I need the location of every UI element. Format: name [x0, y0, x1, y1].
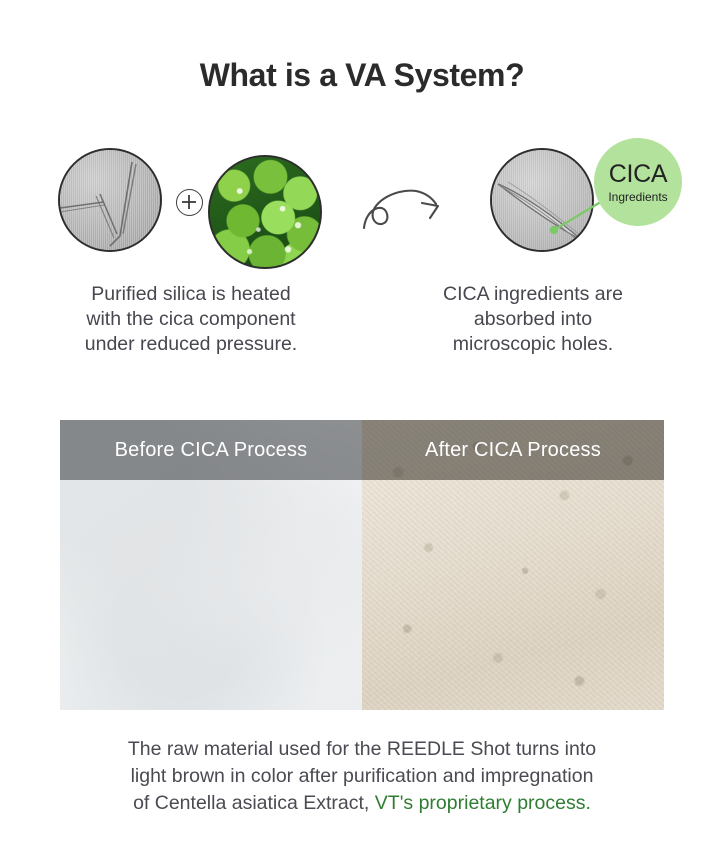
before-after-comparison: Before CICA Process After CICA Process — [60, 420, 664, 710]
caption-right: CICA ingredients are absorbed into micro… — [362, 282, 724, 357]
caption-left-line-3: under reduced pressure. — [40, 332, 342, 357]
cica-ingredients-badge: CICA Ingredients — [594, 138, 682, 226]
footer-line-2: light brown in color after purification … — [0, 763, 724, 790]
cica-badge-subtitle: Ingredients — [608, 191, 667, 203]
plus-icon — [176, 189, 203, 216]
process-diagram: CICA Ingredients — [0, 138, 724, 268]
caption-right-line-1: CICA ingredients are — [382, 282, 684, 307]
comparison-label-bar: Before CICA Process After CICA Process — [60, 420, 664, 480]
footer-highlight: VT's proprietary process. — [375, 792, 591, 814]
curved-process-arrow — [360, 178, 446, 234]
after-label: After CICA Process — [362, 420, 664, 480]
caption-left-line-1: Purified silica is heated — [40, 282, 342, 307]
cica-badge-title: CICA — [609, 162, 668, 187]
purified-silica-micrograph — [58, 148, 162, 252]
caption-right-line-3: microscopic holes. — [382, 332, 684, 357]
caption-left-line-2: with the cica component — [40, 307, 342, 332]
caption-left: Purified silica is heated with the cica … — [0, 282, 362, 357]
water-droplets — [210, 157, 320, 267]
centella-asiatica-leaves — [208, 155, 322, 269]
footer-description: The raw material used for the REEDLE Sho… — [0, 736, 724, 817]
caption-row: Purified silica is heated with the cica … — [0, 282, 724, 357]
footer-line-3: of Centella asiatica Extract, VT's propr… — [0, 790, 724, 817]
before-label: Before CICA Process — [60, 420, 362, 480]
footer-line-1: The raw material used for the REEDLE Sho… — [0, 736, 724, 763]
footer-line-3-plain: of Centella asiatica Extract, — [133, 792, 375, 814]
caption-right-line-2: absorbed into — [382, 307, 684, 332]
page-title: What is a VA System? — [0, 57, 724, 94]
silica-needle-shapes — [60, 150, 162, 252]
